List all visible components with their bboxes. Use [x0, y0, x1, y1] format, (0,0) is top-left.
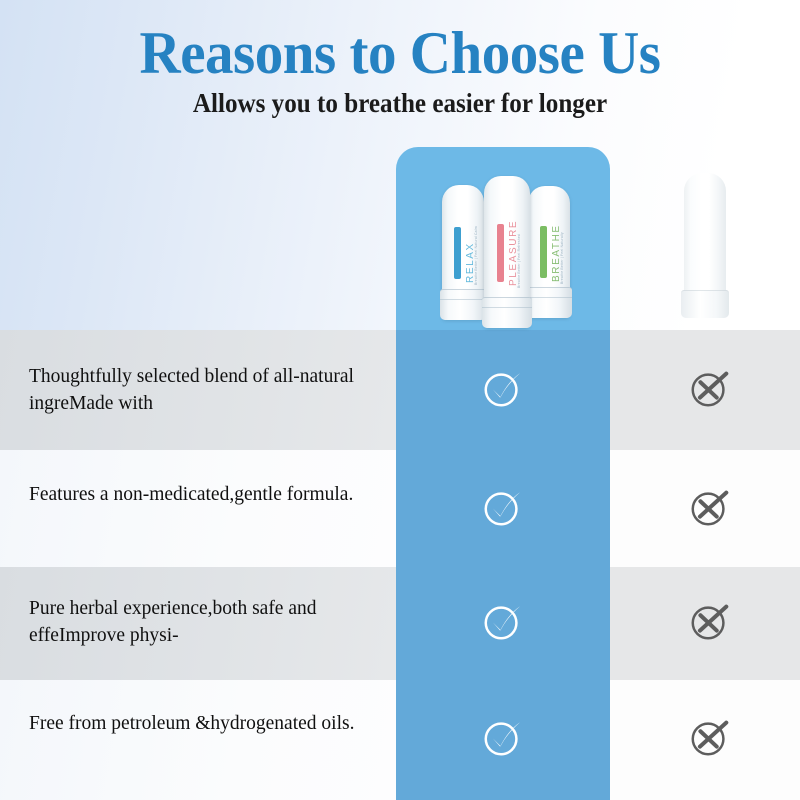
check-circle-icon — [480, 714, 526, 760]
check-circle-icon — [480, 365, 526, 411]
feature-label: Free from petroleum &hydrogenated oils. — [29, 710, 379, 737]
inhaler-breathe-band — [540, 226, 547, 278]
row-2-left-band — [0, 450, 396, 567]
inhaler-pleasure: PLEASURE Breathe Better | Feel Refreshed — [484, 176, 530, 328]
cross-circle-icon — [687, 484, 733, 530]
inhaler-breathe-microtext: Breathe Better | Feel Naturally — [560, 232, 564, 284]
inhaler-relax-cap — [440, 289, 486, 320]
inhaler-unbranded-cap — [681, 290, 729, 318]
feature-label: Features a non-medicated,gentle formula. — [29, 481, 379, 508]
inhaler-pleasure-band — [497, 224, 504, 282]
feature-label: Pure herbal experience,both safe and eff… — [29, 595, 379, 649]
row-4-left-band — [0, 680, 396, 800]
page-subtitle: Allows you to breathe easier for longer — [28, 86, 772, 120]
table-row: Free from petroleum &hydrogenated oils. — [0, 680, 800, 800]
table-row: Features a non-medicated,gentle formula. — [0, 450, 800, 567]
feature-label: Thoughtfully selected blend of all-natur… — [29, 363, 379, 417]
inhaler-breathe: BREATHE Breathe Better | Feel Naturally — [528, 186, 570, 318]
page-title: Reasons to Choose Us — [20, 20, 780, 86]
cross-circle-icon — [687, 714, 733, 760]
table-row: Thoughtfully selected blend of all-natur… — [0, 330, 800, 450]
check-circle-icon — [480, 484, 526, 530]
inhaler-breathe-cap — [526, 287, 572, 318]
our-products-image: RELAX Breathe Better | Feel Natural Calm… — [396, 147, 610, 330]
inhaler-relax-band — [454, 227, 461, 279]
inhaler-relax: RELAX Breathe Better | Feel Natural Calm — [442, 185, 484, 320]
cross-circle-icon — [687, 598, 733, 644]
inhaler-relax-microtext: Breathe Better | Feel Natural Calm — [474, 226, 478, 285]
cross-circle-icon — [687, 365, 733, 411]
comparison-infographic: Reasons to Choose Us Allows you to breat… — [0, 0, 800, 800]
inhaler-pleasure-microtext: Breathe Better | Feel Refreshed — [517, 234, 521, 288]
inhaler-pleasure-cap — [482, 297, 532, 328]
inhaler-unbranded — [684, 173, 726, 318]
check-circle-icon — [480, 598, 526, 644]
table-row: Pure herbal experience,both safe and eff… — [0, 567, 800, 680]
competitor-product-image — [610, 147, 800, 330]
